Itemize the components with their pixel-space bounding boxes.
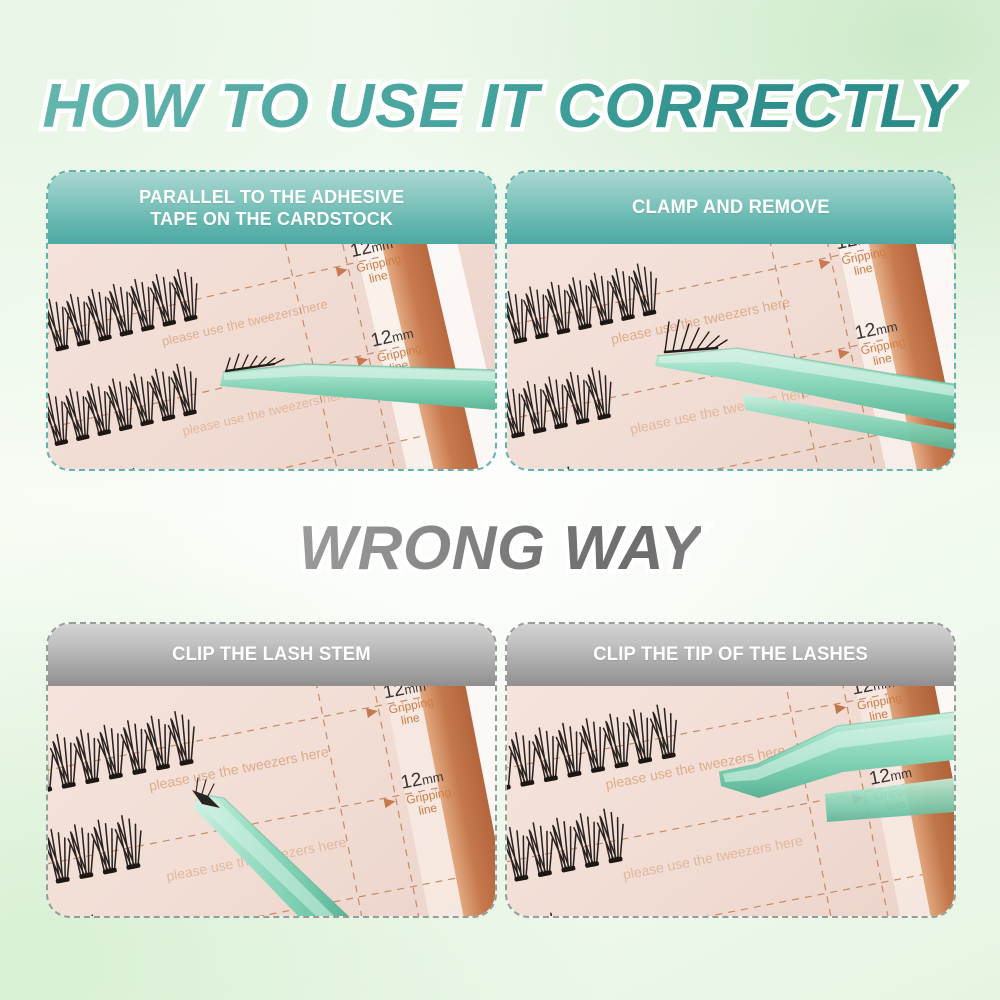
card-correct-1-photo: 12mm Gripping line 12mm Gripping line pl… — [48, 244, 495, 469]
card-wrong-2-header: CLIP THE TIP OF THE LASHES — [507, 624, 954, 686]
card-correct-1-header-text: PARALLEL TO THE ADHESIVE TAPE ON THE CAR… — [125, 186, 417, 230]
title-how-to-use-fill: HOW TO USE IT CORRECTLY — [42, 76, 958, 138]
card-correct-2-photo: 12mm Gripping line 12mm Gripping line pl… — [507, 244, 954, 469]
card-correct-2-header-text: CLAMP AND REMOVE — [618, 197, 843, 219]
card-correct-2[interactable]: 12mm Gripping line 12mm Gripping line pl… — [507, 172, 954, 469]
page-title: HOW TO USE IT CORRECTLY HOW TO USE IT CO… — [0, 76, 1000, 138]
card-wrong-2-header-text: CLIP THE TIP OF THE LASHES — [580, 644, 882, 666]
card-wrong-1-photo: 12mm Gripping line 12mm Gripping line pl… — [48, 686, 495, 916]
card-wrong-1-header: CLIP THE LASH STEM — [48, 624, 495, 686]
card-correct-1-header-line1: PARALLEL TO THE ADHESIVE — [139, 186, 404, 208]
title-wrong-way: WRONG WAY WRONG WAY — [299, 518, 702, 580]
card-wrong-1[interactable]: 12mm Gripping line 12mm Gripping line pl… — [48, 624, 495, 916]
card-correct-2-header: CLAMP AND REMOVE — [507, 172, 954, 244]
title-wrong-way-fill: WRONG WAY — [299, 518, 702, 580]
card-wrong-2-photo: 12mm Gripping line 12mm Gripping line pl… — [507, 686, 954, 916]
wrong-way-title: WRONG WAY WRONG WAY — [0, 518, 1000, 580]
card-wrong-2[interactable]: 12mm Gripping line 12mm Gripping line pl… — [507, 624, 954, 916]
card-wrong-1-header-text: CLIP THE LASH STEM — [159, 644, 385, 666]
title-how-to-use: HOW TO USE IT CORRECTLY HOW TO USE IT CO… — [42, 76, 958, 138]
card-correct-1-header-line2: TAPE ON THE CARDSTOCK — [139, 208, 404, 230]
card-correct-1[interactable]: 12mm Gripping line 12mm Gripping line pl… — [48, 172, 495, 469]
card-correct-1-header: PARALLEL TO THE ADHESIVE TAPE ON THE CAR… — [48, 172, 495, 244]
